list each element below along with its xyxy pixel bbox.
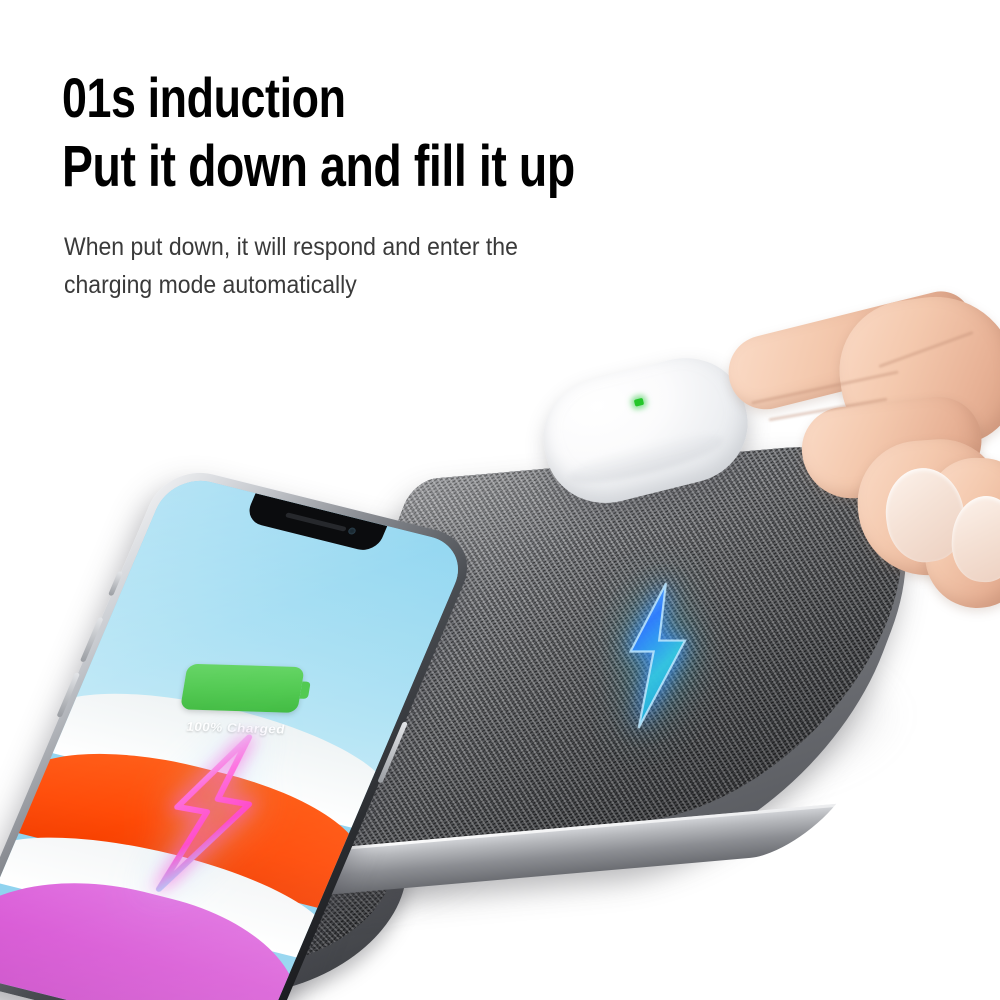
product-scene: 100% Charged [0,300,1000,1000]
front-camera-icon [347,527,357,535]
subtitle-line-1: When put down, it will respond and enter… [64,228,518,266]
headline-line-2: Put it down and fill it up [62,138,575,196]
earpiece-speaker [285,512,347,532]
subtitle-line-2: charging mode automatically [64,266,357,304]
banner-canvas: 01s induction Put it down and fill it up… [0,0,1000,1000]
charging-bolt-blue-icon [615,581,701,731]
hand-holding-case [690,290,1000,630]
headline-line-1: 01s induction [62,70,346,126]
